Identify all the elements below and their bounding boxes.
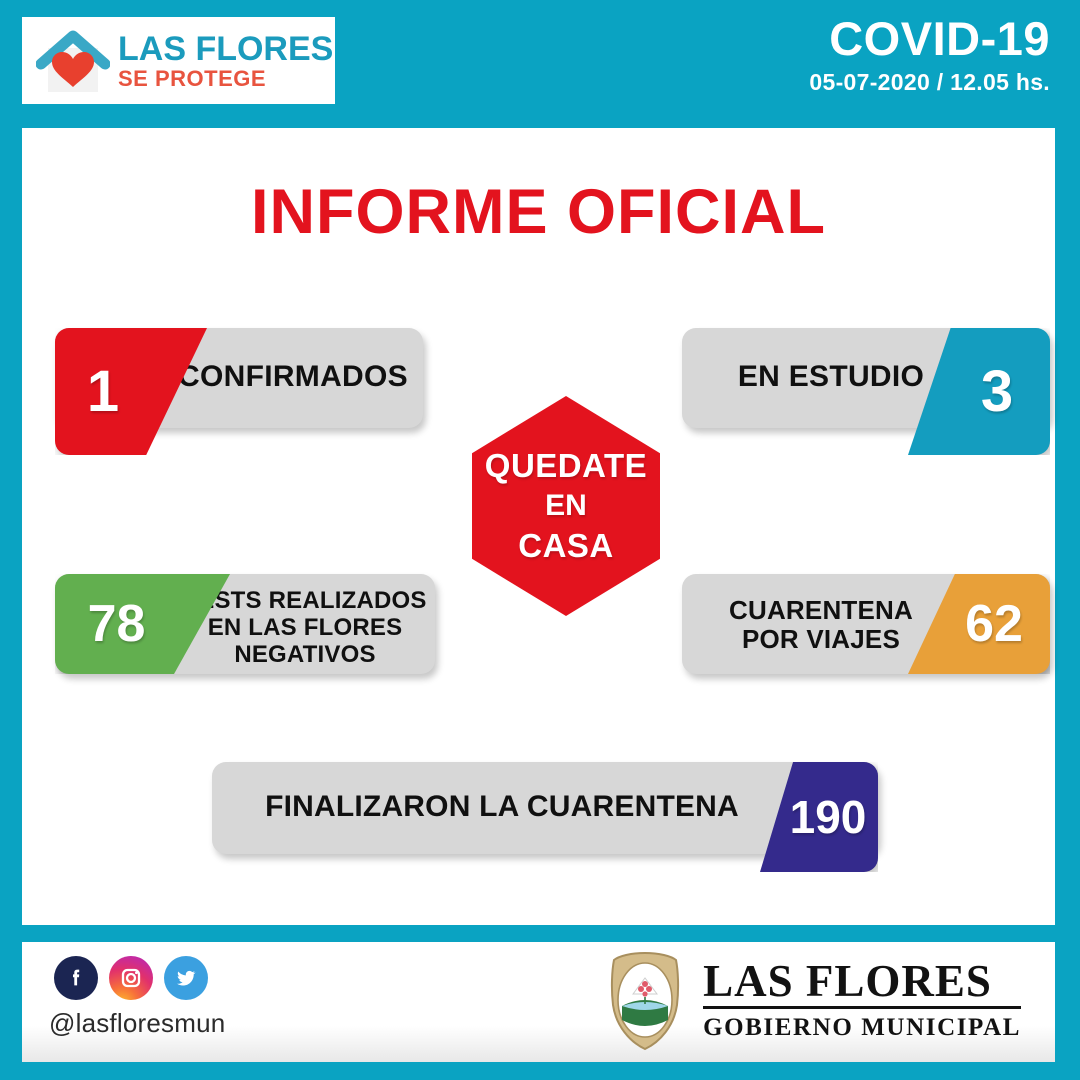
logo-wordmark: LAS FLORES SE PROTEGE: [118, 32, 333, 90]
coat-of-arms-icon: [603, 950, 687, 1052]
gov-line-1: LAS FLORES: [703, 959, 1021, 1009]
logo-line-1: LAS FLORES: [118, 32, 333, 66]
stat-label-confirmados: CONFIRMADOS: [175, 360, 411, 394]
footer-panel: @lasfloresmun LAS FLORES GOBIERNO MUNICI…: [22, 942, 1055, 1062]
report-timestamp: 05-07-2020 / 12.05 hs.: [809, 69, 1050, 96]
tests-label-line-2: EN LAS FLORES: [208, 614, 403, 641]
header-title-block: COVID-19 05-07-2020 / 12.05 hs.: [809, 14, 1050, 96]
gov-wordmark: LAS FLORES GOBIERNO MUNICIPAL: [703, 959, 1021, 1044]
covid-report-poster: LAS FLORES SE PROTEGE COVID-19 05-07-202…: [0, 0, 1080, 1080]
header-bar: LAS FLORES SE PROTEGE COVID-19 05-07-202…: [0, 0, 1080, 118]
logo-line-2: SE PROTEGE: [118, 68, 333, 90]
stat-label-en-estudio: EN ESTUDIO: [706, 360, 956, 394]
tests-label-line-3: NEGATIVOS: [234, 641, 375, 668]
stat-label-cuarentena-viajes: CUARENTENA POR VIAJES: [696, 596, 946, 654]
quedate-en-casa-badge: QUEDATE EN CASA: [472, 396, 660, 616]
facebook-icon[interactable]: [54, 956, 98, 1000]
page-title: INFORME OFICIAL: [22, 176, 1055, 248]
viajes-label-line-1: CUARENTENA: [729, 595, 913, 625]
stat-label-tests-negativos: TESTS REALIZADOS EN LAS FLORES NEGATIVOS: [179, 588, 431, 669]
twitter-icon[interactable]: [164, 956, 208, 1000]
badge-line-1: QUEDATE: [485, 445, 647, 487]
main-panel: INFORME OFICIAL CONFIRMADOS 1 EN ESTUDIO…: [22, 128, 1055, 925]
gov-line-2: GOBIERNO MUNICIPAL: [703, 1015, 1021, 1040]
instagram-icon[interactable]: [109, 956, 153, 1000]
badge-line-3: CASA: [518, 525, 614, 567]
viajes-label-line-2: POR VIAJES: [742, 624, 900, 654]
covid-title: COVID-19: [809, 14, 1050, 63]
social-links: [54, 956, 208, 1000]
gobierno-municipal-logo: LAS FLORES GOBIERNO MUNICIPAL: [603, 950, 1021, 1052]
stat-label-finalizaron-cuarentena: FINALIZARON LA CUARENTENA: [232, 790, 772, 824]
las-flores-se-protege-logo: LAS FLORES SE PROTEGE: [22, 17, 335, 104]
social-handle[interactable]: @lasfloresmun: [49, 1008, 225, 1039]
badge-line-2: EN: [545, 487, 587, 525]
house-heart-icon: [36, 30, 110, 92]
